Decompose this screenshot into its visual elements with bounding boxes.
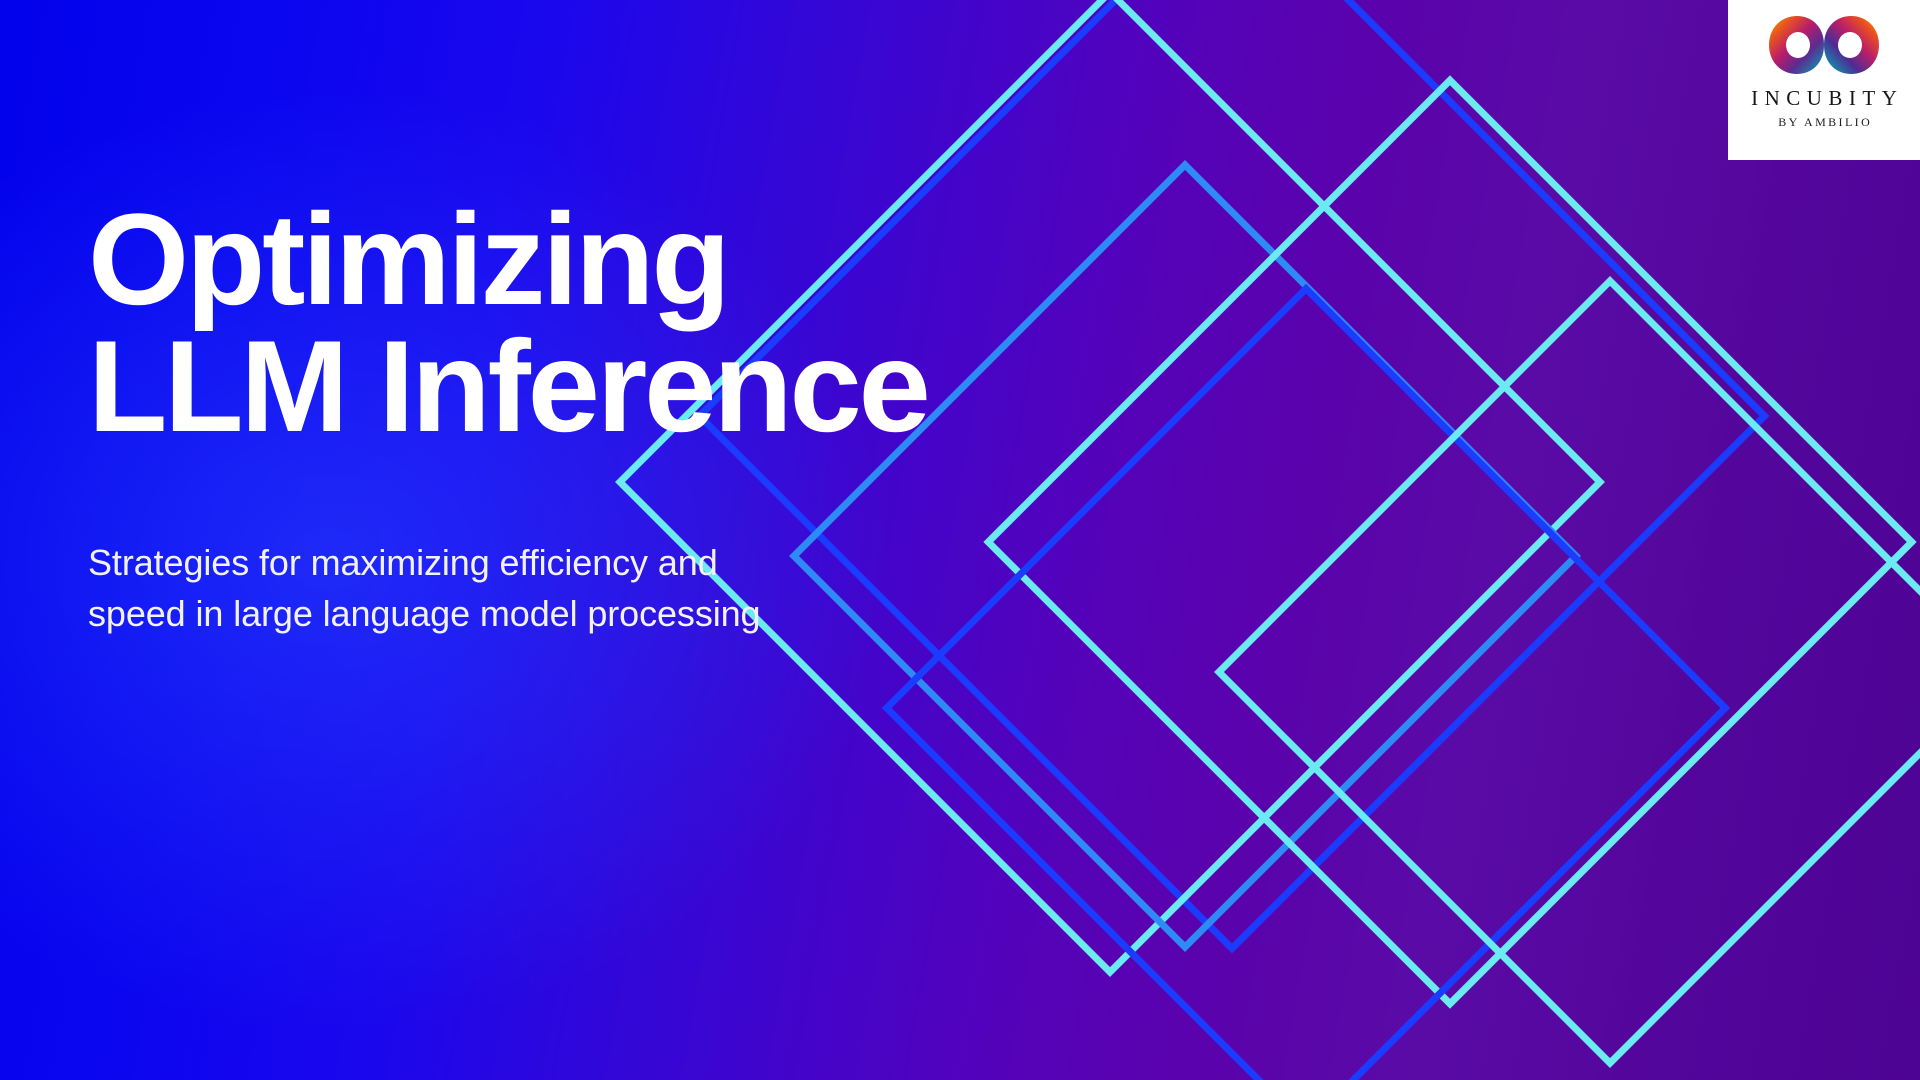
slide-canvas: Optimizing LLM Inference Strategies for … [0,0,1920,1080]
brand-tagline: BY AMBILIO [1776,116,1872,128]
slide-subtitle-line-2: speed in large language model processing [88,588,968,639]
slide-title: Optimizing LLM Inference [88,196,968,451]
slide-subtitle: Strategies for maximizing efficiency and… [88,451,968,639]
slide-title-line-1: Optimizing [88,196,968,323]
brand-name: INCUBITY [1745,88,1904,109]
diamond-outline-cyan-far [1214,276,1920,1068]
brand-logo-card: INCUBITY BY AMBILIO [1728,0,1920,160]
slide-text-block: Optimizing LLM Inference Strategies for … [88,196,968,639]
infinity-loop-icon [1765,14,1883,76]
slide-title-line-2: LLM Inference [88,323,968,450]
slide-subtitle-line-1: Strategies for maximizing efficiency and [88,537,968,588]
diamond-outline-cyan-right [983,75,1916,1008]
diamond-outline-blue-lower [882,284,1731,1080]
